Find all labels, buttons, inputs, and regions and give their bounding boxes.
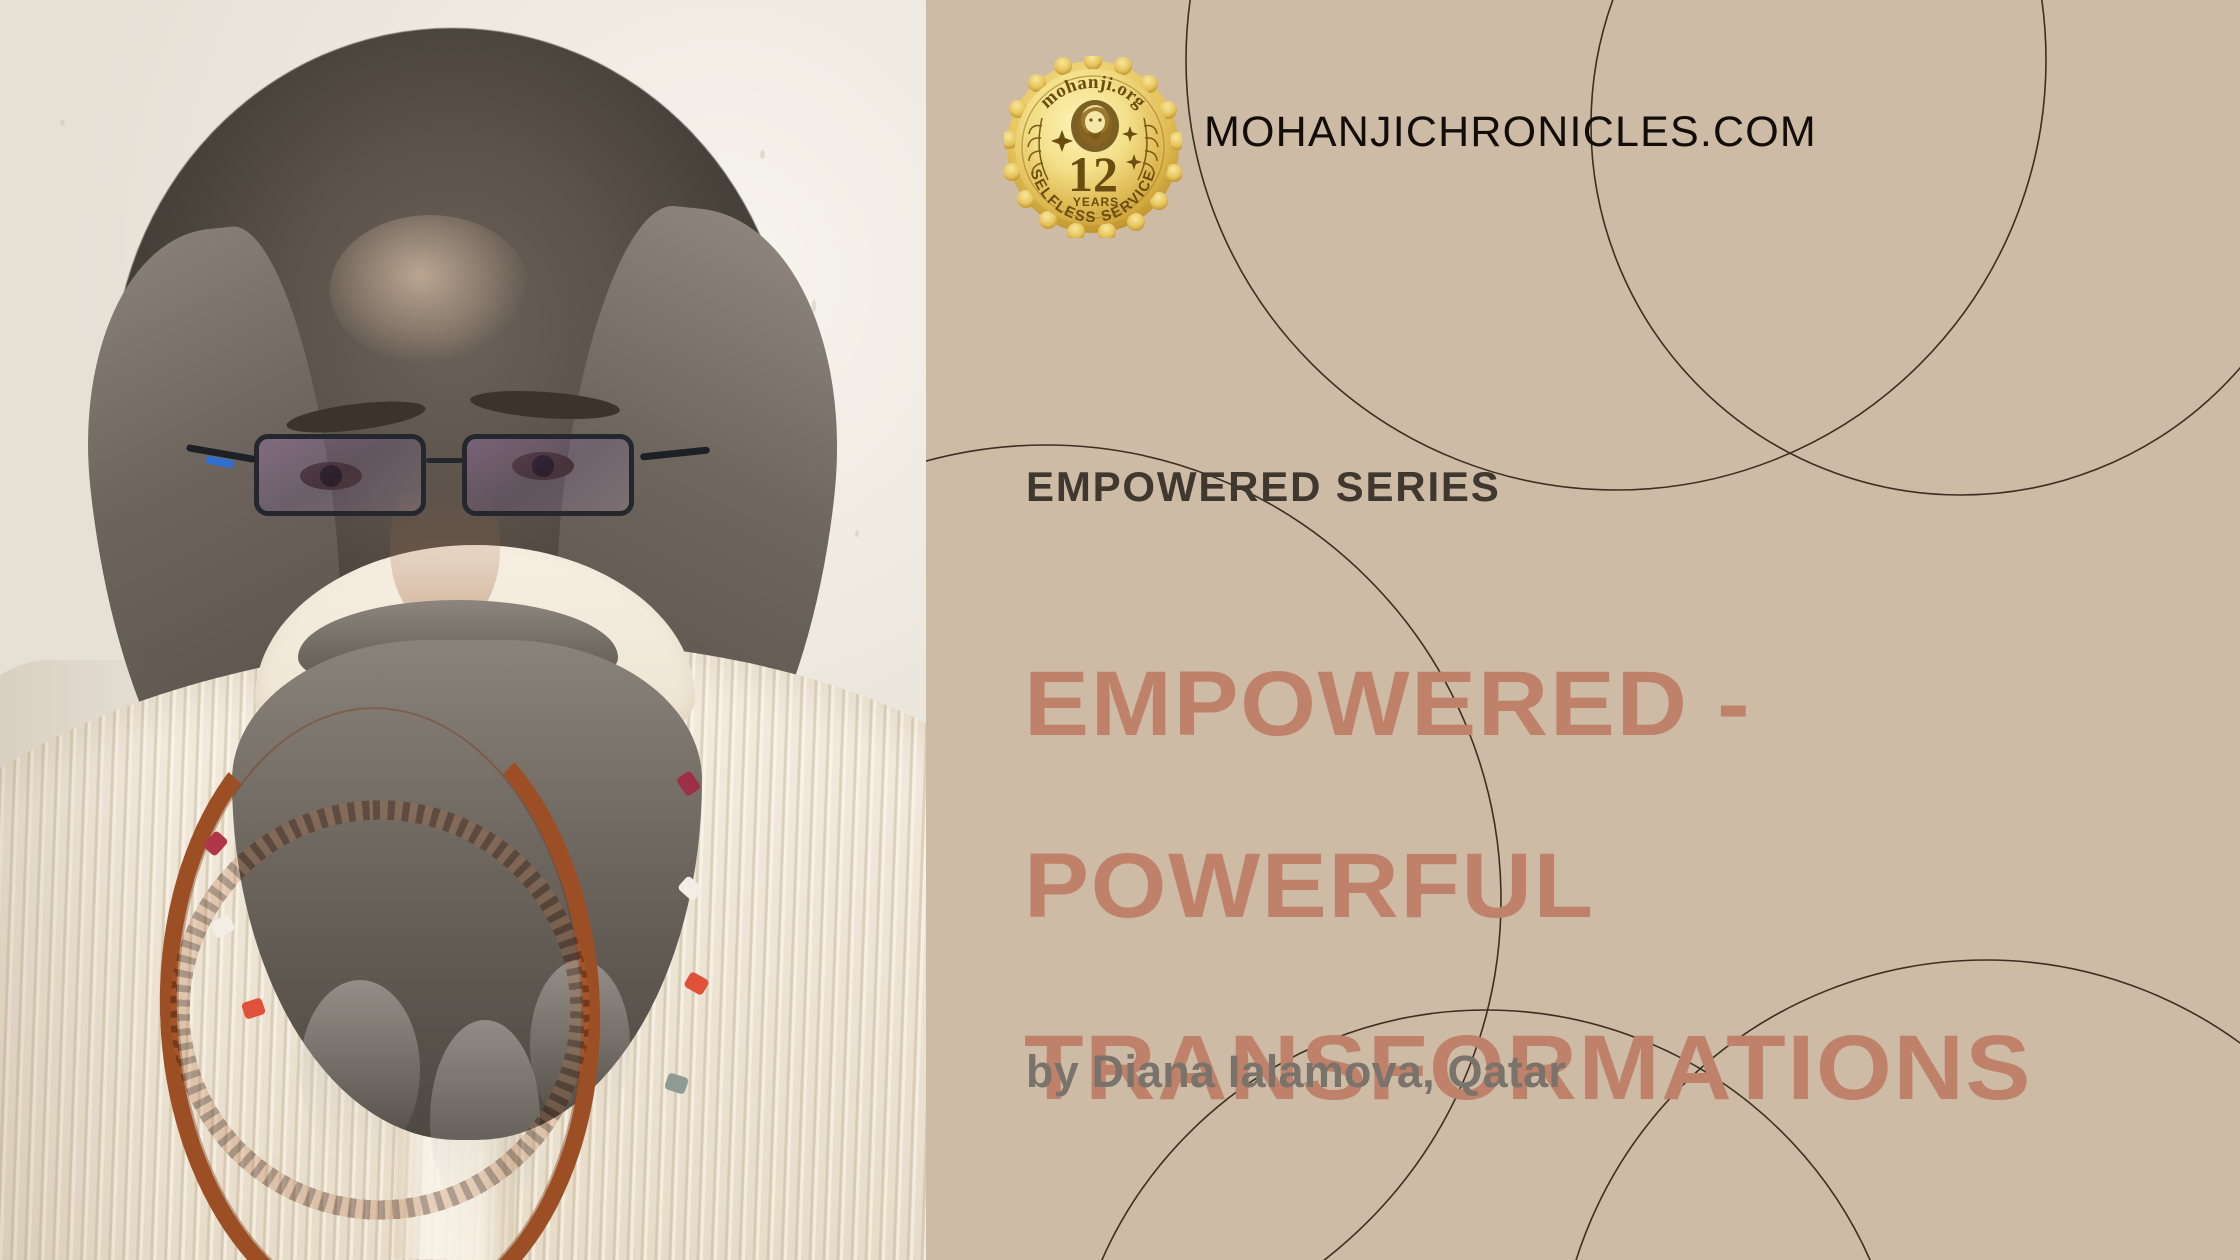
badge-number-sub: YEARS <box>1073 195 1119 209</box>
page-title: EMPOWERED - POWERFUL TRANSFORMATIONS <box>1024 568 2032 1206</box>
page-title-line-1: EMPOWERED - <box>1024 659 2032 750</box>
badge-portrait-motif <box>1071 100 1119 152</box>
kurta-shadow <box>0 660 170 1260</box>
glasses-lens-left <box>254 434 426 516</box>
portrait-photo <box>0 0 926 1260</box>
mohanji-12-years-seal-badge: mohanji.org SELFLESS SERVICE <box>1004 56 1182 238</box>
page-title-line-2: POWERFUL <box>1024 841 2032 932</box>
content-panel: mohanji.org SELFLESS SERVICE <box>926 0 2240 1260</box>
article-banner-card: mohanji.org SELFLESS SERVICE <box>0 0 2240 1260</box>
glasses-bridge <box>426 458 466 463</box>
deco-circle <box>1591 0 2240 495</box>
wall-speck <box>855 530 859 537</box>
deco-circle <box>1186 0 2046 490</box>
series-label: EMPOWERED SERIES <box>1026 463 1501 511</box>
forehead-highlight <box>330 215 530 365</box>
wall-speck <box>760 150 765 159</box>
glasses <box>248 428 648 524</box>
badge-number: 12 <box>1068 146 1118 202</box>
glasses-lens-right <box>462 434 634 516</box>
byline: by Diana Ialamova, Qatar <box>1026 1046 1566 1098</box>
wall-speck <box>60 120 65 126</box>
site-url[interactable]: MOHANJICHRONICLES.COM <box>1204 108 1817 157</box>
